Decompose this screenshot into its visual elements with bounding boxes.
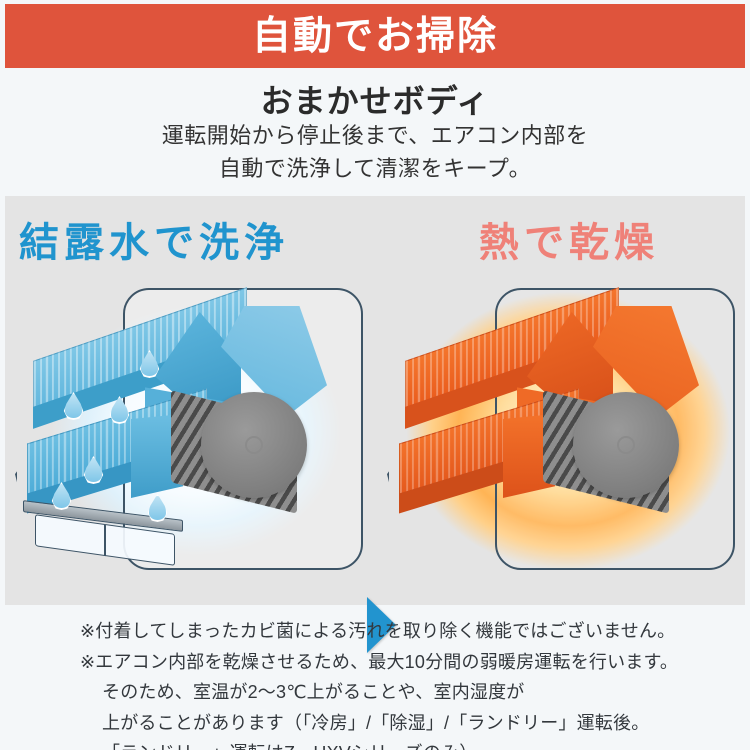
- illustration-panel: 結露水で洗浄 熱で乾燥: [5, 196, 745, 605]
- lead-line-2: 自動で洗浄して清潔をキープ。: [0, 153, 750, 186]
- footnote-line-3: そのため、室温が2〜3℃上がることや、室内湿度が: [80, 677, 740, 708]
- footnote-line-1: ※付着してしまったカビ菌による汚れを取り除く機能ではございません。: [80, 616, 740, 647]
- page-title: 自動でお掃除: [252, 17, 498, 56]
- footnote-line-4: 上がることがあります（「冷房」/「除湿」/「ランドリー」運転後。: [80, 708, 740, 739]
- illustration-dry: [377, 266, 745, 596]
- feature-name: おまかせボディ: [0, 76, 750, 122]
- infographic-page: 自動でお掃除 おまかせボディ 運転開始から停止後まで、エアコン内部を 自動で洗浄…: [0, 0, 750, 750]
- cross-flow-fan: [573, 392, 679, 498]
- lead-line-1: 運転開始から停止後まで、エアコン内部を: [0, 120, 750, 153]
- header-banner: 自動でお掃除: [5, 4, 745, 68]
- footnote-line-2: ※エアコン内部を乾燥させるため、最大10分間の弱暖房運転を行います。: [80, 647, 740, 678]
- fan-hub-icon: [245, 436, 263, 454]
- feature-description: 運転開始から停止後まで、エアコン内部を 自動で洗浄して清潔をキープ。: [0, 120, 750, 185]
- footnote-line-5: 「ランドリー」運転はZ・HXVシリーズのみ）。: [80, 738, 740, 750]
- section-label-wash: 結露水で洗浄: [19, 210, 289, 268]
- footnotes: ※付着してしまったカビ菌による汚れを取り除く機能ではございません。 ※エアコン内…: [80, 616, 740, 750]
- cross-flow-fan: [201, 392, 307, 498]
- section-label-dry: 熱で乾燥: [479, 210, 659, 268]
- fan-hub-icon: [617, 436, 635, 454]
- illustration-wash: [5, 266, 373, 596]
- louver-split: [104, 525, 106, 556]
